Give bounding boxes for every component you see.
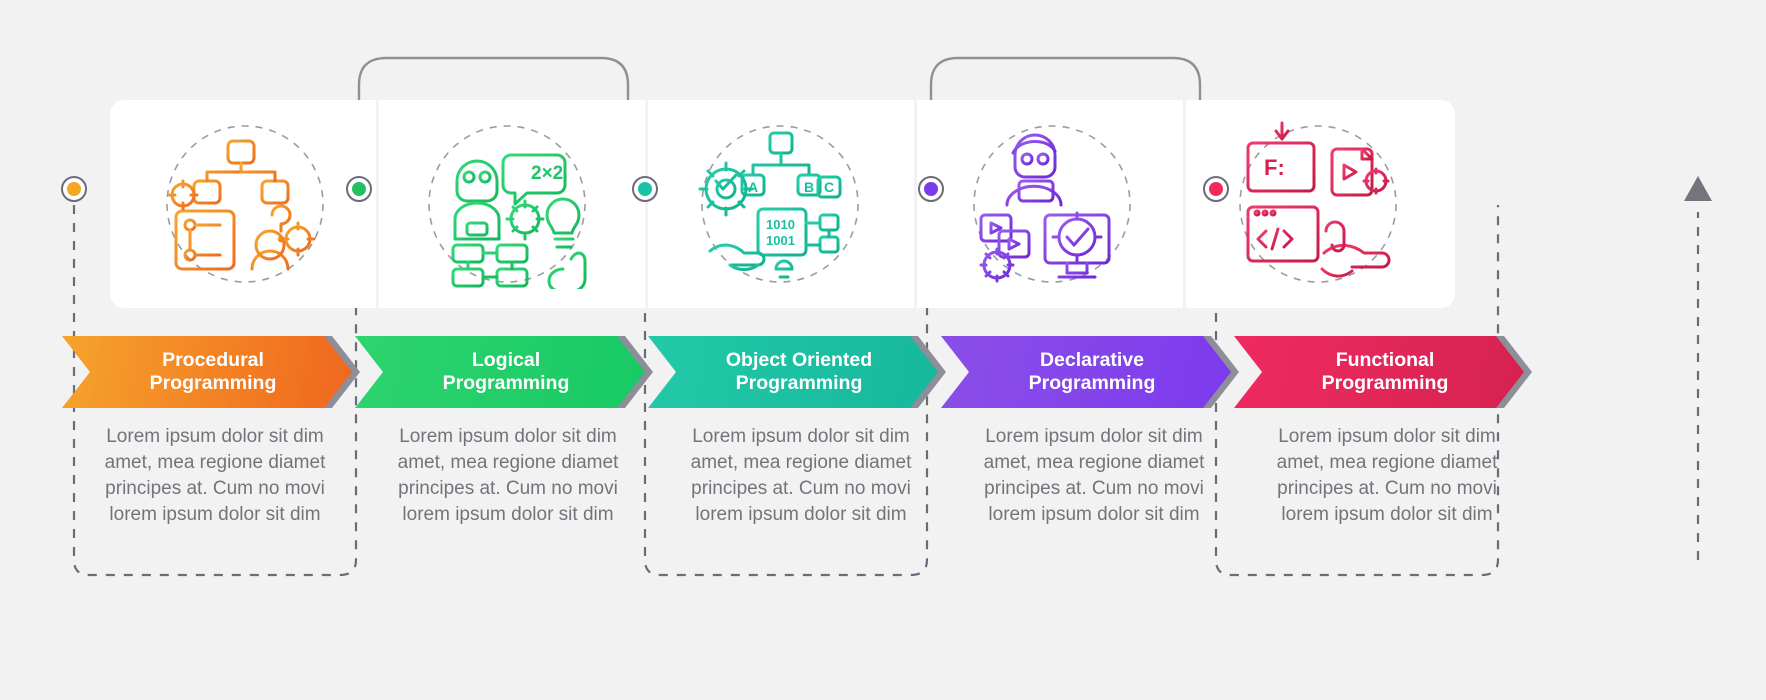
dot-fill-3 [924,182,938,196]
dot-fill-4 [1209,182,1223,196]
chevron-row: Procedural Programming Logical Programmi… [62,336,1708,408]
description-row: Lorem ipsum dolor sit dim amet, mea regi… [62,424,1708,554]
chevron-line2-logical: Programming [443,372,570,394]
chevron-label-declarative: Declarative Programming [1003,349,1170,395]
dot-fill-2 [638,182,652,196]
oop-node-a: A [748,179,758,195]
milestone-dot-2[interactable] [632,176,658,202]
icon-card-functional[interactable]: F: [1186,100,1455,308]
chevron-line2-object-oriented: Programming [736,372,863,394]
logical-thinking-icon: 2×2 [419,119,609,289]
chevron-line2-procedural: Programming [150,372,277,394]
chevron-line1-declarative: Declarative [1040,349,1144,371]
chevron-functional[interactable]: Functional Programming [1234,336,1524,408]
description-functional: Lorem ipsum dolor sit dim amet, mea regi… [1260,424,1514,528]
logical-bubble-text: 2×2 [531,163,563,184]
chevron-label-object-oriented: Object Oriented Programming [700,349,886,395]
procedural-flow-icon [150,119,340,289]
chevron-object-oriented[interactable]: Object Oriented Programming [648,336,938,408]
oop-node-c: C [824,179,834,195]
description-logical: Lorem ipsum dolor sit dim amet, mea regi… [381,424,635,528]
dot-fill-0 [67,182,81,196]
milestone-dot-4[interactable] [1203,176,1229,202]
icon-card-object-oriented[interactable]: 1010 1001 A B C [648,100,917,308]
chevron-line1-object-oriented: Object Oriented [726,349,872,371]
chevron-logical[interactable]: Logical Programming [355,336,645,408]
oop-binary-line-1: 1010 [766,217,795,232]
description-procedural: Lorem ipsum dolor sit dim amet, mea regi… [88,424,342,528]
declarative-developer-icon [957,119,1147,289]
chevron-label-logical: Logical Programming [417,349,584,395]
functional-label-text: F: [1264,155,1285,180]
description-declarative: Lorem ipsum dolor sit dim amet, mea regi… [967,424,1221,528]
milestone-dot-1[interactable] [346,176,372,202]
description-object-oriented: Lorem ipsum dolor sit dim amet, mea regi… [674,424,928,528]
chevron-label-functional: Functional Programming [1296,349,1463,395]
infographic-stage: 2×2 [0,0,1766,700]
icon-card-logical[interactable]: 2×2 [379,100,648,308]
icon-card-row: 2×2 [110,100,1455,308]
icon-card-procedural[interactable] [110,100,379,308]
functional-code-icon: F: [1226,119,1416,289]
chevron-line1-logical: Logical [472,349,540,371]
chevron-line2-functional: Programming [1322,372,1449,394]
oop-binary-line-2: 1001 [766,233,795,248]
oop-node-b: B [804,179,814,195]
chevron-procedural[interactable]: Procedural Programming [62,336,352,408]
dot-fill-1 [352,182,366,196]
chevron-line1-procedural: Procedural [162,349,264,371]
end-arrow-icon [1684,176,1712,201]
chevron-label-procedural: Procedural Programming [124,349,291,395]
icon-card-declarative[interactable] [917,100,1186,308]
chevron-declarative[interactable]: Declarative Programming [941,336,1231,408]
milestone-dot-3[interactable] [918,176,944,202]
chevron-line1-functional: Functional [1336,349,1435,371]
object-oriented-icon: 1010 1001 A B C [688,119,878,289]
milestone-dot-0[interactable] [61,176,87,202]
chevron-line2-declarative: Programming [1029,372,1156,394]
